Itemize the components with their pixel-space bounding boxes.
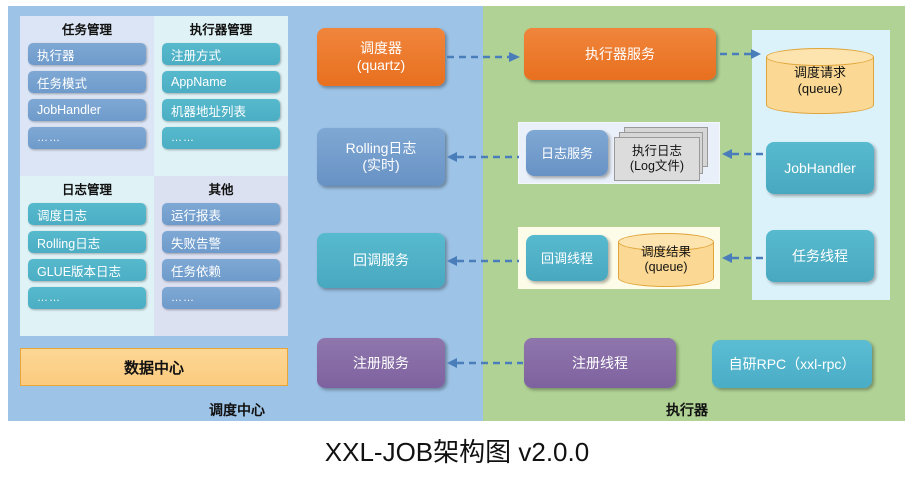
data-center-box: 数据中心 <box>20 348 288 386</box>
admin-panel: 任务管理 执行器 任务模式 JobHandler …… 执行器管理 注册方式 A… <box>20 16 288 336</box>
quadrant-task-management: 任务管理 执行器 任务模式 JobHandler …… <box>20 16 154 176</box>
node-jobhandler[interactable]: JobHandler <box>766 142 874 194</box>
pill-item[interactable]: 调度日志 <box>28 203 146 225</box>
zone-caption-executor: 执行器 <box>666 400 708 420</box>
queue-schedule-result: 调度结果 (queue) <box>618 233 714 287</box>
node-register-service[interactable]: 注册服务 <box>317 338 445 388</box>
node-rolling-log[interactable]: Rolling日志 (实时) <box>317 128 445 186</box>
pill-item[interactable]: 注册方式 <box>162 43 280 65</box>
quadrant-other: 其他 运行报表 失败告警 任务依赖 …… <box>154 176 288 336</box>
diagram-title: XXL-JOB架构图 v2.0.0 <box>0 432 914 469</box>
arrow-register-thread-to-register-service <box>447 357 523 369</box>
quadrant-title: 执行器管理 <box>162 22 280 38</box>
node-xxl-rpc[interactable]: 自研RPC（xxl-rpc） <box>712 340 872 388</box>
quadrant-title: 任务管理 <box>28 22 146 38</box>
arrow-task-thread-to-result-queue <box>722 252 764 264</box>
quadrant-title: 其他 <box>162 182 280 198</box>
zone-caption-dispatch-center: 调度中心 <box>209 400 265 420</box>
pill-item[interactable]: Rolling日志 <box>28 231 146 253</box>
quadrant-log-management: 日志管理 调度日志 Rolling日志 GLUE版本日志 …… <box>20 176 154 336</box>
node-label: Rolling日志 (实时) <box>346 140 417 174</box>
node-log-service[interactable]: 日志服务 <box>526 130 608 176</box>
quadrant-title: 日志管理 <box>28 182 146 198</box>
node-executor-service[interactable]: 执行器服务 <box>524 28 716 80</box>
node-label: 调度器 (quartz) <box>357 40 405 74</box>
node-scheduler-quartz[interactable]: 调度器 (quartz) <box>317 28 445 86</box>
node-task-thread[interactable]: 任务线程 <box>766 230 874 282</box>
queue-label: 调度结果 (queue) <box>618 233 714 287</box>
queue-schedule-request: 调度请求 (queue) <box>766 48 874 114</box>
node-register-thread[interactable]: 注册线程 <box>524 338 676 388</box>
pill-item[interactable]: 任务依赖 <box>162 259 280 281</box>
arrow-callback-thread-to-callback-service <box>447 255 519 267</box>
pill-item[interactable]: 任务模式 <box>28 71 146 93</box>
pill-item-more[interactable]: …… <box>28 287 146 309</box>
pill-item[interactable]: 运行报表 <box>162 203 280 225</box>
node-callback-service[interactable]: 回调服务 <box>317 233 445 288</box>
quadrant-executor-management: 执行器管理 注册方式 AppName 机器地址列表 …… <box>154 16 288 176</box>
arrow-quartz-to-executor-service <box>447 51 521 63</box>
pill-item[interactable]: GLUE版本日志 <box>28 259 146 281</box>
arrow-log-service-to-rolling-log <box>447 151 519 163</box>
pill-item[interactable]: 机器地址列表 <box>162 99 280 121</box>
queue-label: 调度请求 (queue) <box>766 48 874 114</box>
pill-item-more[interactable]: …… <box>162 287 280 309</box>
pill-item[interactable]: 失败告警 <box>162 231 280 253</box>
pill-item-more[interactable]: …… <box>162 127 280 149</box>
architecture-diagram: 任务管理 执行器 任务模式 JobHandler …… 执行器管理 注册方式 A… <box>0 0 914 479</box>
node-callback-thread[interactable]: 回调线程 <box>526 235 608 281</box>
pill-item[interactable]: AppName <box>162 71 280 93</box>
pill-item[interactable]: JobHandler <box>28 99 146 121</box>
execution-log-files-icon: 执行日志 (Log文件) <box>612 127 710 181</box>
pill-item-more[interactable]: …… <box>28 127 146 149</box>
log-sheet-front: 执行日志 (Log文件) <box>614 137 700 181</box>
arrow-executor-service-to-request-queue <box>720 48 762 60</box>
pill-item[interactable]: 执行器 <box>28 43 146 65</box>
arrow-jobhandler-to-log-service <box>722 148 764 160</box>
